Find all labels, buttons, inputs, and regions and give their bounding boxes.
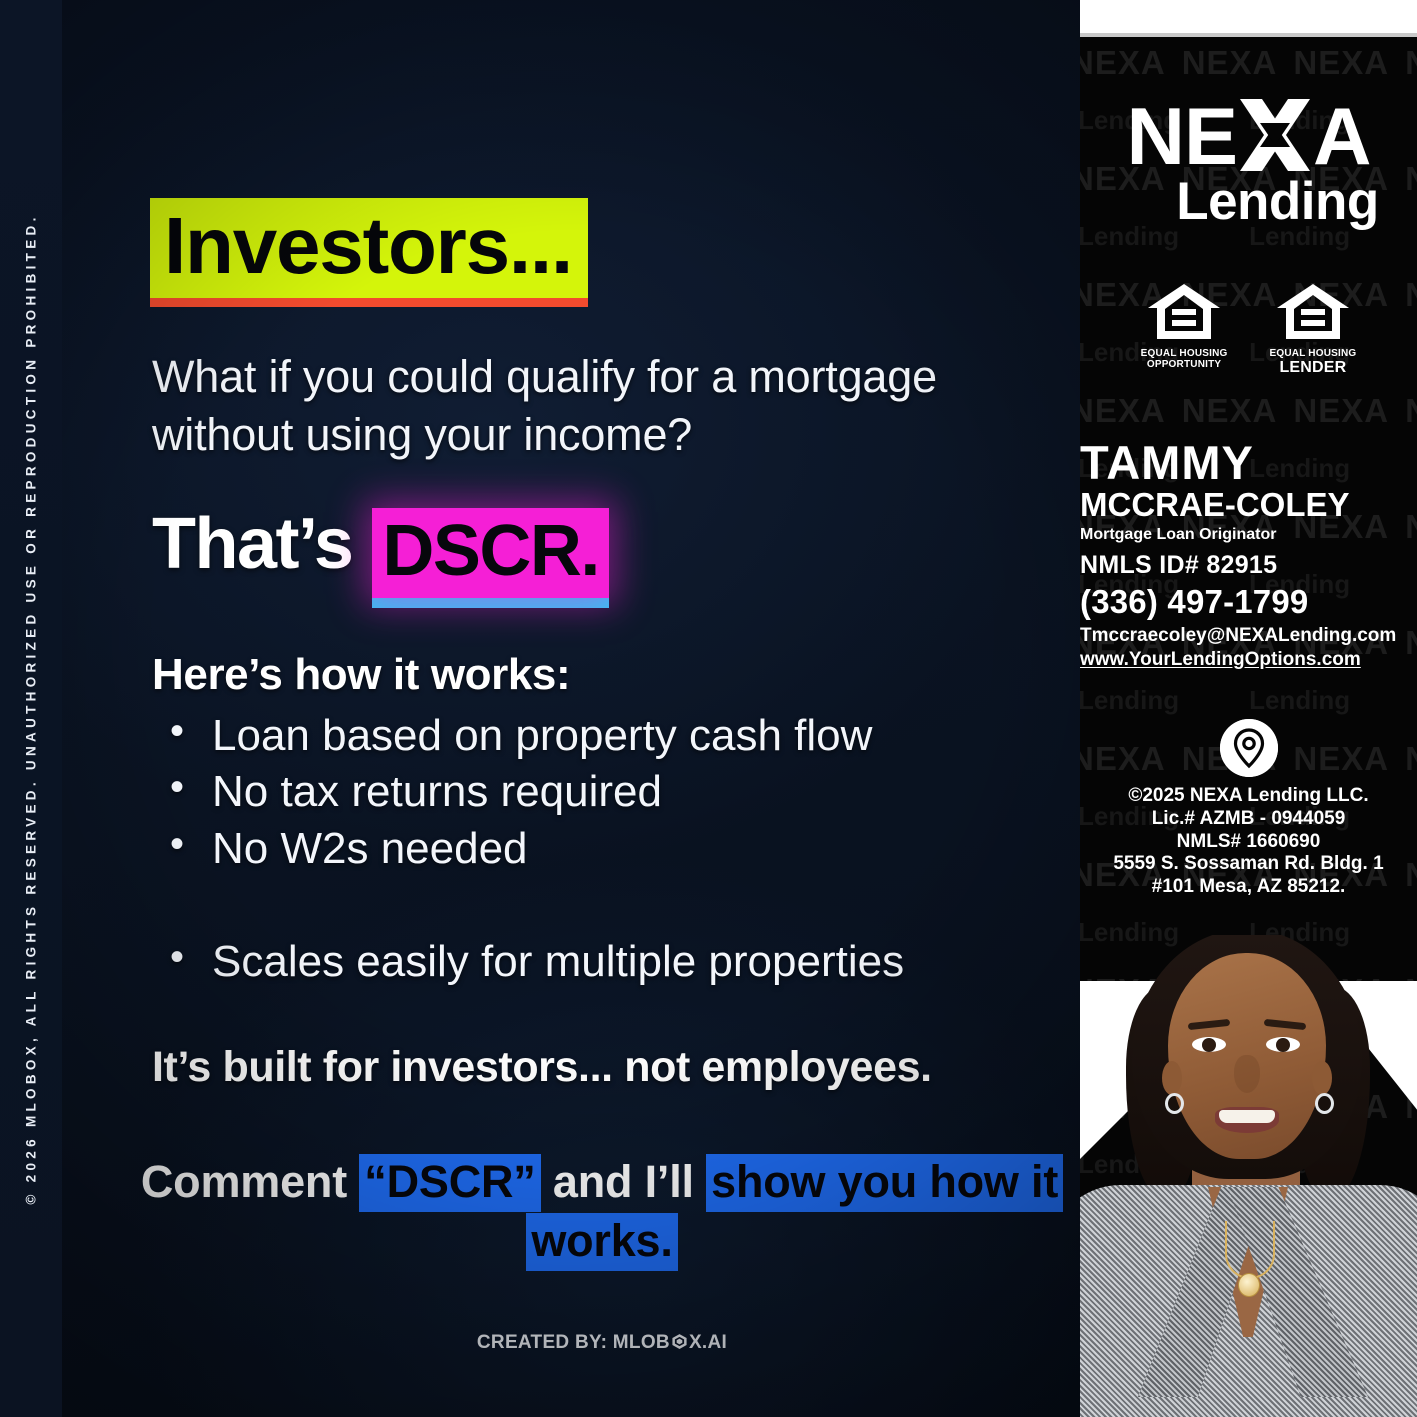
watermark-nexa-text: NEXA — [1182, 394, 1278, 427]
equal-housing-badges: EQUAL HOUSING OPPORTUNITY EQUAL HOUSING — [1080, 281, 1417, 377]
cta-highlight-dscr: “DSCR” — [359, 1154, 540, 1212]
watermark-nexa-text: NEXA — [1405, 394, 1417, 427]
watermark-lending-text: Lending — [1249, 687, 1350, 713]
list-item: No W2s needed — [164, 821, 1044, 877]
creator-credit-prefix: CREATED BY: MLOB — [477, 1332, 670, 1353]
headline-block: Investors... — [150, 198, 588, 307]
headline-underline-rule — [150, 298, 588, 307]
pupil-right — [1276, 1038, 1290, 1052]
watermark-nexa-text: NEXA — [1405, 46, 1417, 79]
legal-line: Lic.# AZMB - 0944059 — [1080, 808, 1417, 831]
legal-line: #101 Mesa, AZ 85212. — [1080, 876, 1417, 899]
legal-line: NMLS# 1660690 — [1080, 831, 1417, 854]
nexa-x-icon — [1238, 95, 1312, 179]
agent-last-name: MCCRAE-COLEY — [1080, 487, 1417, 523]
mouth — [1215, 1107, 1279, 1133]
list-item: No tax returns required — [164, 764, 1044, 820]
agent-email-address[interactable]: Tmccraecoley@NEXALending.com — [1080, 625, 1417, 647]
location-pin-wrap — [1080, 719, 1417, 782]
creator-credit-suffix: X.AI — [689, 1332, 727, 1353]
location-pin-icon — [1220, 719, 1278, 777]
agent-phone-number[interactable]: (336) 497-1799 — [1080, 583, 1417, 621]
dscr-prefix-text: That’s — [152, 508, 352, 580]
logo-ne-text: NE — [1126, 97, 1237, 178]
watermark-nexa-text: NEXA — [1080, 46, 1166, 79]
hexagon-cube-icon — [671, 1333, 688, 1350]
main-content-panel: Investors... What if you could qualify f… — [62, 0, 1080, 1417]
subheadline-question: What if you could qualify for a mortgage… — [152, 348, 1032, 463]
equal-housing-house-icon — [1274, 330, 1352, 347]
list-item: Scales easily for multiple properties — [164, 934, 1044, 990]
closing-statement: It’s built for investors... not employee… — [152, 1043, 932, 1092]
watermark-nexa-text: NEXA — [1293, 46, 1389, 79]
sidebar-top-divider — [1080, 33, 1417, 37]
social-graphic-canvas: © 2026 MLOBOX, ALL RIGHTS RESERVED. UNAU… — [0, 0, 1417, 1417]
agent-role: Mortgage Loan Originator — [1080, 526, 1417, 544]
eh-line-2: OPPORTUNITY — [1147, 359, 1221, 370]
page-title: Investors... — [150, 198, 588, 298]
cta-part-2: and I’ll — [541, 1156, 707, 1207]
legal-line: ©2025 NEXA Lending LLC. — [1080, 785, 1417, 808]
necklace-chain — [1225, 1221, 1275, 1279]
logo-lending-text: Lending — [1138, 175, 1417, 228]
legal-line: 5559 S. Sossaman Rd. Bldg. 1 — [1080, 853, 1417, 876]
call-to-action: Comment “DSCR” and I’ll show you how it … — [124, 1152, 1080, 1271]
agent-details: TAMMY MCCRAE-COLEY Mortgage Loan Origina… — [1080, 438, 1417, 671]
watermark-nexa-text: NEXA — [1182, 46, 1278, 79]
watermark-nexa-text: NEXA — [1293, 394, 1389, 427]
list-item: Loan based on property cash flow — [164, 708, 1044, 764]
nexa-wordmark: NE A — [1080, 95, 1417, 179]
dscr-term-text: DSCR. — [372, 508, 609, 598]
equal-housing-opportunity-badge: EQUAL HOUSING OPPORTUNITY — [1141, 281, 1228, 377]
creator-credit: CREATED BY: MLOBX.AI — [124, 1332, 1080, 1354]
copyright-text: © 2026 MLOBOX, ALL RIGHTS RESERVED. UNAU… — [24, 213, 39, 1204]
equal-housing-lender-badge: EQUAL HOUSING LENDER — [1270, 281, 1357, 377]
dscr-callout-line: That’s DSCR. — [152, 508, 609, 608]
watermark-row: NEXANEXANEXANEXA — [1080, 381, 1417, 439]
earring-right — [1315, 1093, 1334, 1114]
nose — [1234, 1055, 1260, 1093]
dscr-term-block: DSCR. — [372, 508, 609, 608]
nexa-lending-logo: NE A Lending — [1080, 95, 1417, 228]
eh-line-2: LENDER — [1270, 360, 1357, 377]
agent-website-link[interactable]: www.YourLendingOptions.com — [1080, 649, 1417, 671]
agent-headshot-photo — [1080, 935, 1417, 1417]
watermark-row: NEXANEXANEXANEXA — [1080, 33, 1417, 91]
watermark-lending-text: Lending — [1080, 687, 1179, 713]
logo-a-text: A — [1313, 97, 1371, 178]
agent-first-name: TAMMY — [1080, 438, 1417, 487]
benefits-list: Loan based on property cash flow No tax … — [164, 708, 1044, 990]
equal-housing-opportunity-caption: EQUAL HOUSING OPPORTUNITY — [1141, 349, 1228, 370]
ear-left — [1162, 1061, 1182, 1095]
watermark-nexa-text: NEXA — [1080, 394, 1166, 427]
eh-line-1: EQUAL HOUSING — [1141, 348, 1228, 359]
earring-left — [1165, 1093, 1184, 1114]
dscr-underline-rule — [372, 598, 609, 608]
how-it-works-title: Here’s how it works: — [152, 650, 570, 700]
legal-disclosure: ©2025 NEXA Lending LLC. Lic.# AZMB - 094… — [1080, 785, 1417, 899]
ear-right — [1312, 1061, 1332, 1095]
agent-nmls-id: NMLS ID# 82915 — [1080, 551, 1417, 580]
teeth — [1219, 1110, 1275, 1123]
necklace-pendant — [1238, 1273, 1260, 1297]
copyright-rail: © 2026 MLOBOX, ALL RIGHTS RESERVED. UNAU… — [0, 0, 62, 1417]
pupil-left — [1202, 1038, 1216, 1052]
equal-housing-house-icon — [1145, 330, 1223, 347]
cta-part-1: Comment — [141, 1156, 359, 1207]
eh-line-1: EQUAL HOUSING — [1270, 348, 1357, 359]
equal-housing-lender-caption: EQUAL HOUSING LENDER — [1270, 349, 1357, 377]
